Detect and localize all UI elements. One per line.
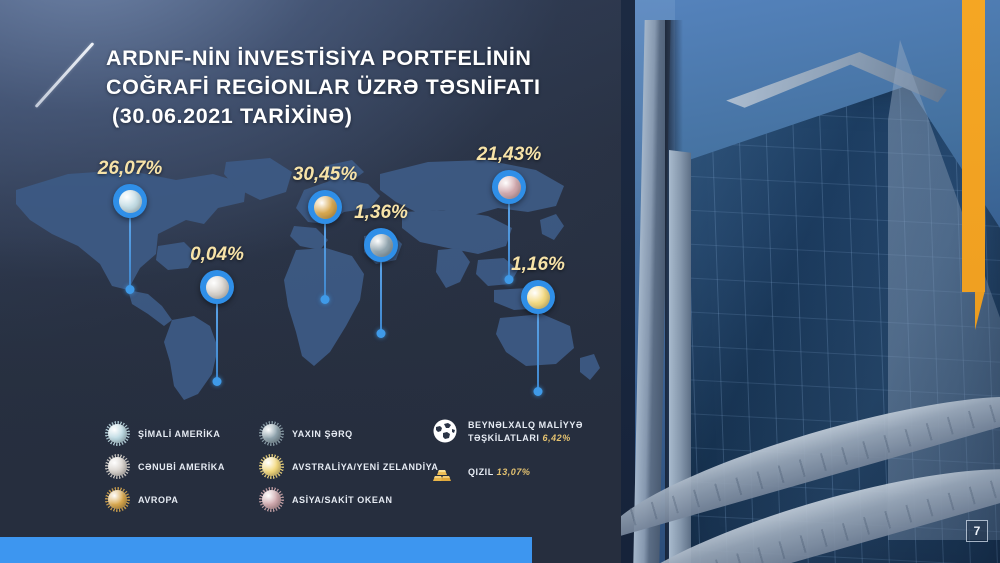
legend-item[interactable]: AVSTRALİYA/YENİ ZELANDİYA xyxy=(262,451,438,482)
map-marker-tip xyxy=(213,377,222,386)
photo-left-edge xyxy=(621,0,635,563)
map-marker-stem xyxy=(380,261,382,333)
title-line-2: COĞRAFİ REGİONLAR ÜZRƏ TƏSNİFATI xyxy=(106,73,576,102)
map-marker-percent: 21,43% xyxy=(477,144,541,166)
legend-item[interactable]: YAXIN ŞƏRQ xyxy=(262,418,438,449)
diagonal-accent-line xyxy=(35,42,95,108)
map-marker-pin[interactable] xyxy=(521,280,555,314)
legend-color-swatch xyxy=(108,490,127,509)
building-photo-panel xyxy=(621,0,1000,563)
legend-item[interactable]: CƏNUBİ AMERİKA xyxy=(108,451,225,482)
map-marker-pin[interactable] xyxy=(492,170,526,204)
legend-item-label: CƏNUBİ AMERİKA xyxy=(138,462,225,472)
legend-column-1: ŞİMALİ AMERİKACƏNUBİ AMERİKAAVROPA xyxy=(108,418,225,517)
map-marker-south-america[interactable]: 0,04% xyxy=(200,270,234,382)
map-marker-tip xyxy=(505,275,514,284)
legend-special-line-1: BEYNƏLXALQ MALİYYƏ xyxy=(468,419,583,432)
legend-color-swatch xyxy=(262,457,281,476)
legend-item-label: YAXIN ŞƏRQ xyxy=(292,429,353,439)
title-line-1: ARDNF-NİN İNVESTİSİYA PORTFELİNİN xyxy=(106,44,576,73)
map-marker-pin[interactable] xyxy=(113,184,147,218)
map-marker-percent: 1,16% xyxy=(511,254,565,276)
map-marker-pin[interactable] xyxy=(308,190,342,224)
slide-root: ARDNF-NİN İNVESTİSİYA PORTFELİNİN COĞRAF… xyxy=(0,0,1000,563)
map-marker-pin[interactable] xyxy=(364,228,398,262)
bottom-accent-bar xyxy=(0,537,532,563)
legend-special-text: QIZIL 13,07% xyxy=(468,459,530,479)
legend-item-label: AVSTRALİYA/YENİ ZELANDİYA xyxy=(292,462,438,472)
title-line-3: (30.06.2021 TARİXİNƏ) xyxy=(106,102,576,131)
map-marker-percent: 30,45% xyxy=(293,164,357,186)
map-marker-pin[interactable] xyxy=(200,270,234,304)
map-marker-tip xyxy=(534,387,543,396)
legend-special-line-2: QIZIL 13,07% xyxy=(468,460,530,479)
map-marker-tip xyxy=(321,295,330,304)
map-marker-color-dot xyxy=(527,286,550,309)
legend: ŞİMALİ AMERİKACƏNUBİ AMERİKAAVROPA YAXIN… xyxy=(0,418,621,528)
legend-special-text: BEYNƏLXALQ MALİYYƏ TƏŞKİLATLARI 6,42% xyxy=(468,418,583,445)
legend-item[interactable]: AVROPA xyxy=(108,484,225,515)
map-marker-percent: 0,04% xyxy=(190,244,244,266)
legend-item-label: ASİYA/SAKİT OKEAN xyxy=(292,495,393,505)
legend-item-gold: QIZIL 13,07% xyxy=(432,459,583,485)
legend-item-international-financial-orgs: BEYNƏLXALQ MALİYYƏ TƏŞKİLATLARI 6,42% xyxy=(432,418,583,445)
map-marker-australia-new-zealand[interactable]: 1,16% xyxy=(521,280,555,392)
legend-special-line-2: TƏŞKİLATLARI 6,42% xyxy=(468,432,583,445)
map-marker-stem xyxy=(324,223,326,299)
legend-item-label: ŞİMALİ AMERİKA xyxy=(138,429,220,439)
legend-item[interactable]: ASİYA/SAKİT OKEAN xyxy=(262,484,438,515)
legend-special-percent: 6,42% xyxy=(543,433,571,443)
map-marker-stem xyxy=(537,313,539,391)
page-number-value: 7 xyxy=(974,524,981,538)
legend-color-swatch xyxy=(108,457,127,476)
gold-bars-icon xyxy=(432,459,458,485)
map-marker-percent: 26,07% xyxy=(98,158,162,180)
legend-color-swatch xyxy=(262,424,281,443)
map-marker-color-dot xyxy=(119,190,142,213)
world-map-area: 26,07%0,04%30,45%1,36%21,43%1,16% xyxy=(0,150,621,400)
legend-color-swatch xyxy=(108,424,127,443)
legend-color-swatch xyxy=(262,490,281,509)
legend-item[interactable]: ŞİMALİ AMERİKA xyxy=(108,418,225,449)
map-marker-stem xyxy=(129,217,131,289)
legend-column-2: YAXIN ŞƏRQAVSTRALİYA/YENİ ZELANDİYAASİYA… xyxy=(262,418,438,517)
legend-special-percent: 13,07% xyxy=(497,467,531,477)
legend-column-3: BEYNƏLXALQ MALİYYƏ TƏŞKİLATLARI 6,42% xyxy=(432,418,583,499)
map-marker-color-dot xyxy=(314,196,337,219)
map-marker-percent: 1,36% xyxy=(354,202,408,224)
page-title: ARDNF-NİN İNVESTİSİYA PORTFELİNİN COĞRAF… xyxy=(106,44,576,131)
left-content-panel: ARDNF-NİN İNVESTİSİYA PORTFELİNİN COĞRAF… xyxy=(0,0,621,563)
map-marker-color-dot xyxy=(498,176,521,199)
map-marker-tip xyxy=(377,329,386,338)
map-marker-tip xyxy=(126,285,135,294)
globe-icon xyxy=(432,418,458,444)
map-marker-stem xyxy=(216,303,218,381)
map-marker-stem xyxy=(508,203,510,279)
page-number-badge: 7 xyxy=(966,520,988,542)
legend-special-line-2-text: QIZIL xyxy=(468,467,497,477)
map-marker-near-east[interactable]: 1,36% xyxy=(364,228,398,334)
legend-item-label: AVROPA xyxy=(138,495,178,505)
map-marker-color-dot xyxy=(206,276,229,299)
map-marker-north-america[interactable]: 26,07% xyxy=(113,184,147,290)
orange-accent-stripe xyxy=(962,0,985,292)
legend-special-line-2-text: TƏŞKİLATLARI xyxy=(468,433,543,443)
map-marker-color-dot xyxy=(370,234,393,257)
map-marker-europe[interactable]: 30,45% xyxy=(308,190,342,300)
